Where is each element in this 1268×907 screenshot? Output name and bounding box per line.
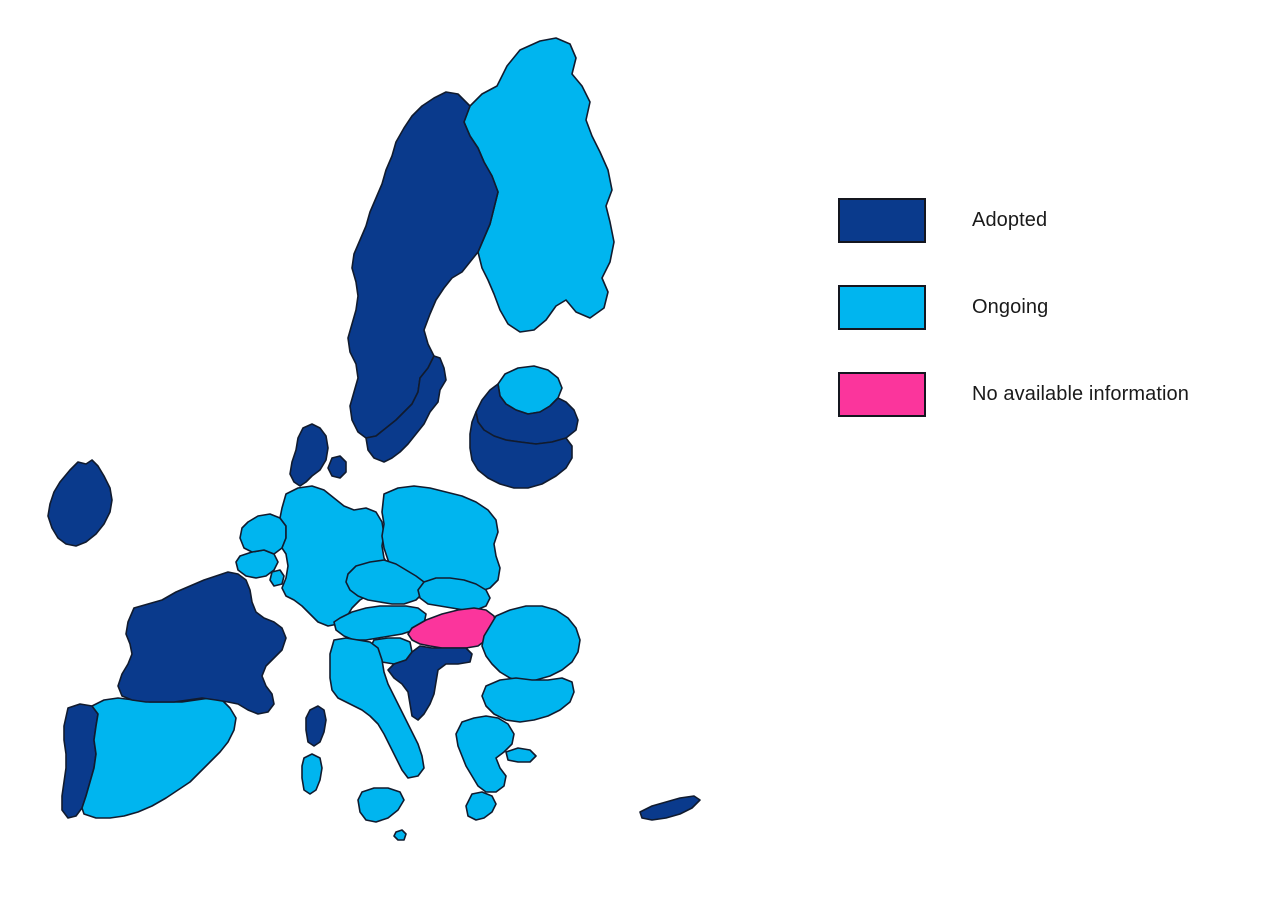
country-germany[interactable] (280, 486, 390, 626)
country-denmark[interactable] (290, 424, 328, 486)
country-denmark-island[interactable] (328, 456, 346, 478)
country-greece-peloponnese[interactable] (466, 792, 496, 820)
country-cyprus[interactable] (640, 796, 700, 820)
legend-item-no-information[interactable]: No available information (838, 372, 1258, 417)
legend-item-ongoing[interactable]: Ongoing (838, 285, 1258, 330)
europe-choropleth-map (0, 0, 820, 907)
country-france[interactable] (118, 572, 286, 714)
island-corsica[interactable] (306, 706, 326, 746)
country-romania[interactable] (482, 606, 580, 682)
island-sardinia[interactable] (302, 754, 322, 794)
country-luxembourg[interactable] (270, 570, 284, 586)
country-netherlands[interactable] (240, 514, 286, 554)
legend-swatch-adopted (838, 198, 926, 243)
island-sicily[interactable] (358, 788, 404, 822)
legend-item-adopted[interactable]: Adopted (838, 198, 1258, 243)
legend-swatch-no-information (838, 372, 926, 417)
map-svg (0, 0, 820, 907)
legend-label-ongoing: Ongoing (972, 296, 1048, 319)
legend-swatch-ongoing (838, 285, 926, 330)
legend-label-no-information: No available information (972, 383, 1189, 406)
country-spain[interactable] (82, 698, 236, 818)
map-legend: Adopted Ongoing No available information (838, 198, 1258, 417)
legend-label-adopted: Adopted (972, 209, 1047, 232)
country-greece[interactable] (456, 716, 514, 792)
country-greece-crete[interactable] (506, 748, 536, 762)
island-malta[interactable] (394, 830, 406, 840)
page-root: Adopted Ongoing No available information (0, 0, 1268, 907)
country-bulgaria[interactable] (482, 678, 574, 722)
country-ireland[interactable] (48, 460, 112, 546)
